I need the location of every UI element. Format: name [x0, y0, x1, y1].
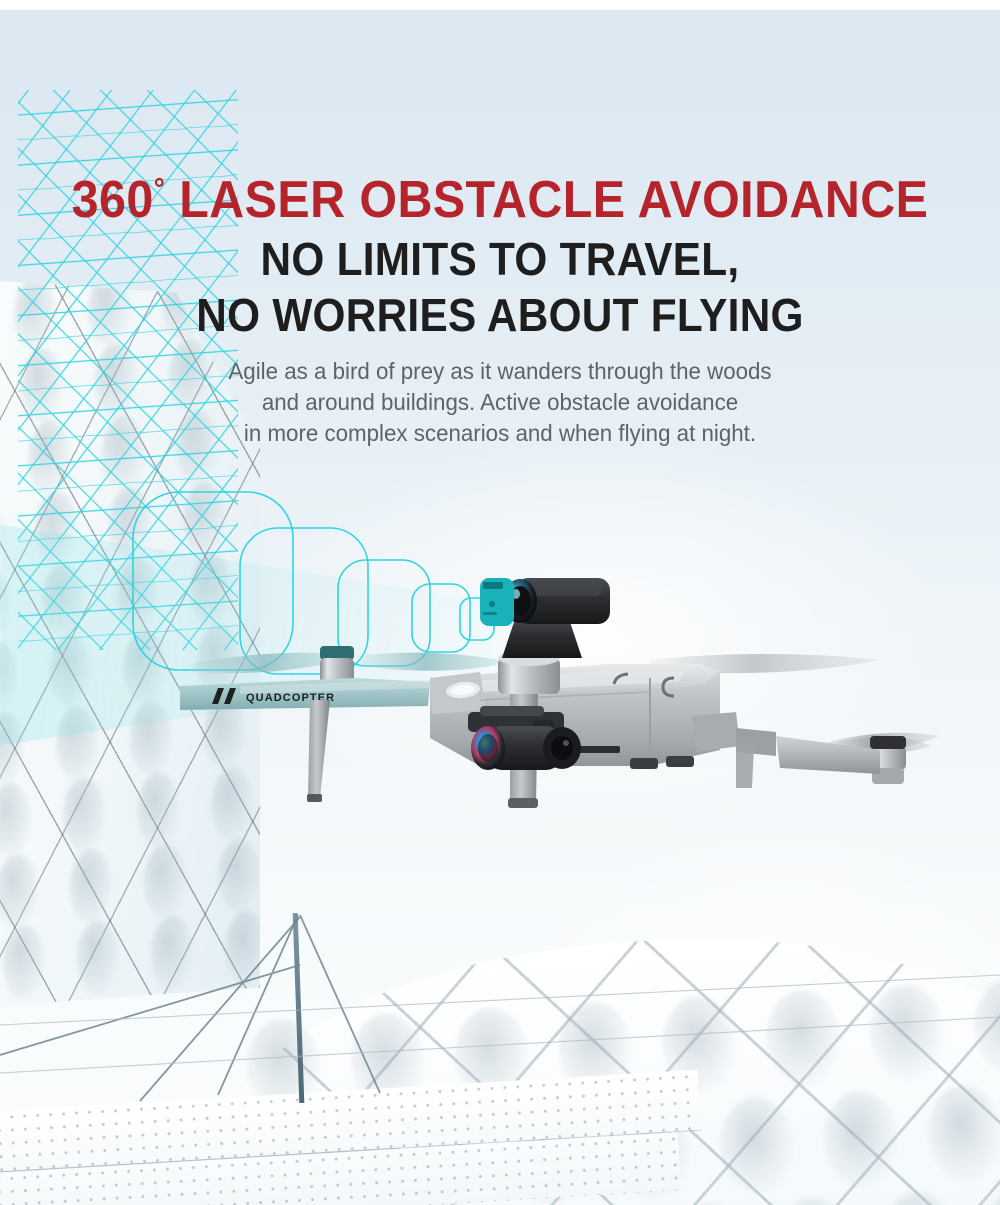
headline-number: 360: [72, 171, 154, 229]
headline-rest: LASER OBSTACLE AVOIDANCE: [165, 171, 928, 229]
bottom-architecture: [0, 905, 1000, 1205]
headline-line3: NO WORRIES ABOUT FLYING: [40, 290, 960, 340]
description-line3: in more complex scenarios and when flyin…: [15, 418, 985, 449]
copy-block: 360° LASER OBSTACLE AVOIDANCE NO LIMITS …: [0, 0, 1000, 449]
landing-leg-rear: [736, 746, 754, 788]
headline-primary: 360° LASER OBSTACLE AVOIDANCE: [35, 172, 965, 228]
drone-quadcopter: QUADCOPTER: [180, 560, 940, 830]
description-line1: Agile as a bird of prey as it wanders th…: [15, 356, 985, 387]
bottom-sensor-a: [630, 758, 658, 769]
bottom-sensor-b: [666, 756, 694, 767]
landing-leg-left: [307, 700, 330, 802]
description-line2: and around buildings. Active obstacle av…: [15, 387, 985, 418]
mast-cables: [0, 905, 1000, 1205]
product-feature-banner: QUADCOPTER: [0, 0, 1000, 1205]
degree-symbol: °: [154, 173, 166, 206]
headline-line2: NO LIMITS TO TRAVEL,: [40, 234, 960, 284]
